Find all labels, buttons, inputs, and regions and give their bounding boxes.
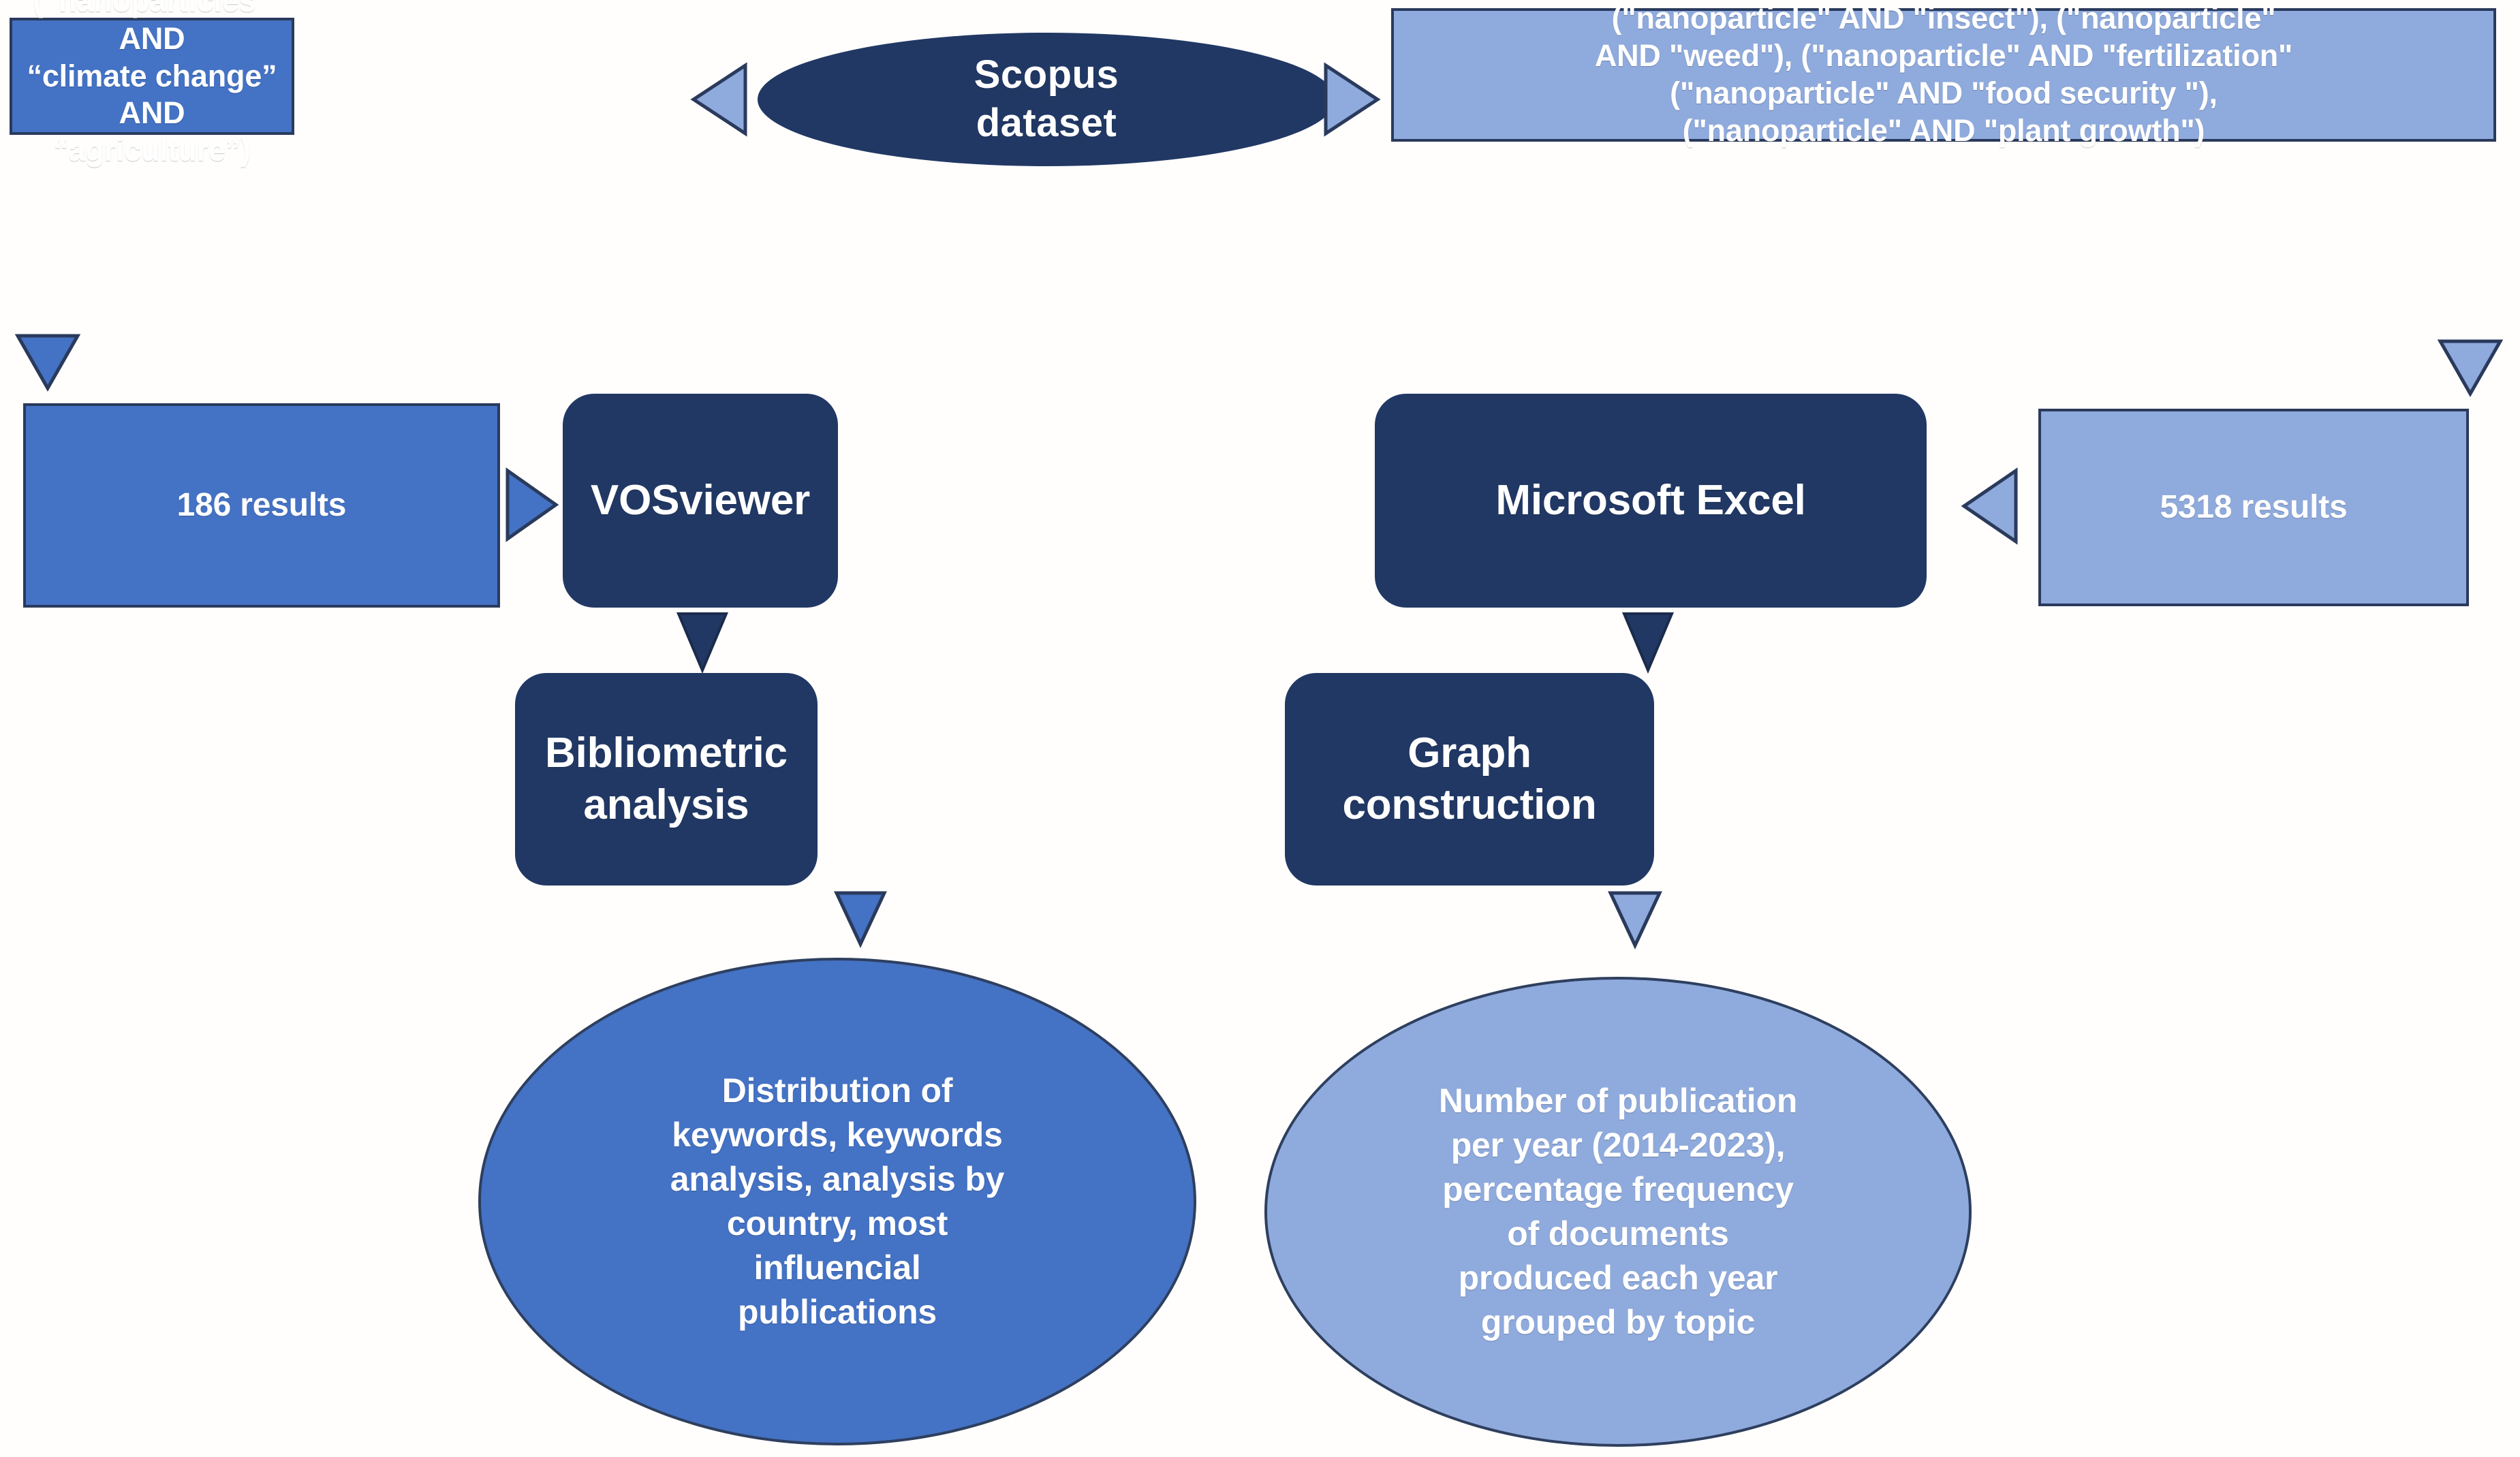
node-results-left-label: 186 results bbox=[168, 486, 356, 526]
arrow-query-left-to-results-left bbox=[15, 334, 80, 390]
node-results-right[interactable]: 5318 results bbox=[2038, 409, 2469, 606]
node-outcome-left[interactable]: Distribution of keywords, keywords analy… bbox=[478, 958, 1196, 1445]
node-vosviewer-label: VOSviewer bbox=[581, 475, 820, 527]
node-results-right-label: 5318 results bbox=[2150, 488, 2356, 528]
node-vosviewer[interactable]: VOSviewer bbox=[563, 394, 838, 608]
node-graph-construction-label: Graph construction bbox=[1285, 727, 1654, 830]
arrow-results-right-to-excel bbox=[1962, 469, 2018, 544]
node-scopus-dataset-label: Scopus dataset bbox=[965, 51, 1129, 148]
node-outcome-left-label: Distribution of keywords, keywords analy… bbox=[661, 1069, 1014, 1334]
node-bibliometric-analysis-label: Bibliometric analysis bbox=[515, 727, 818, 830]
arrow-source-to-query-left bbox=[692, 63, 747, 136]
arrow-graph-to-outcome-right bbox=[1608, 891, 1662, 947]
node-scopus-dataset[interactable]: Scopus dataset bbox=[758, 33, 1335, 166]
arrow-source-to-query-right bbox=[1324, 63, 1379, 136]
node-microsoft-excel[interactable]: Microsoft Excel bbox=[1375, 394, 1927, 608]
arrow-results-left-to-vosviewer bbox=[505, 469, 557, 541]
node-query-left-label: (“nanoparticles” AND “climate change” AN… bbox=[12, 0, 292, 170]
node-bibliometric-analysis[interactable]: Bibliometric analysis bbox=[515, 673, 818, 886]
node-graph-construction[interactable]: Graph construction bbox=[1285, 673, 1654, 886]
arrow-bibliometric-to-outcome-left bbox=[834, 891, 887, 945]
node-outcome-right-label: Number of publication per year (2014-202… bbox=[1429, 1079, 1807, 1345]
node-query-right-label: ("nanoparticle" AND "insect"), ("nanopar… bbox=[1585, 0, 2302, 150]
arrow-vosviewer-to-bibliometric bbox=[676, 612, 729, 672]
node-query-left[interactable]: (“nanoparticles” AND “climate change” AN… bbox=[10, 18, 294, 135]
node-microsoft-excel-label: Microsoft Excel bbox=[1486, 475, 1815, 527]
arrow-query-right-to-results-right bbox=[2438, 339, 2503, 395]
node-outcome-right[interactable]: Number of publication per year (2014-202… bbox=[1264, 977, 1972, 1447]
flowchart-canvas: (“nanoparticles” AND “climate change” AN… bbox=[0, 0, 2520, 1457]
node-query-right[interactable]: ("nanoparticle" AND "insect"), ("nanopar… bbox=[1391, 8, 2496, 142]
arrow-excel-to-graph bbox=[1621, 612, 1675, 672]
node-results-left[interactable]: 186 results bbox=[23, 403, 500, 608]
